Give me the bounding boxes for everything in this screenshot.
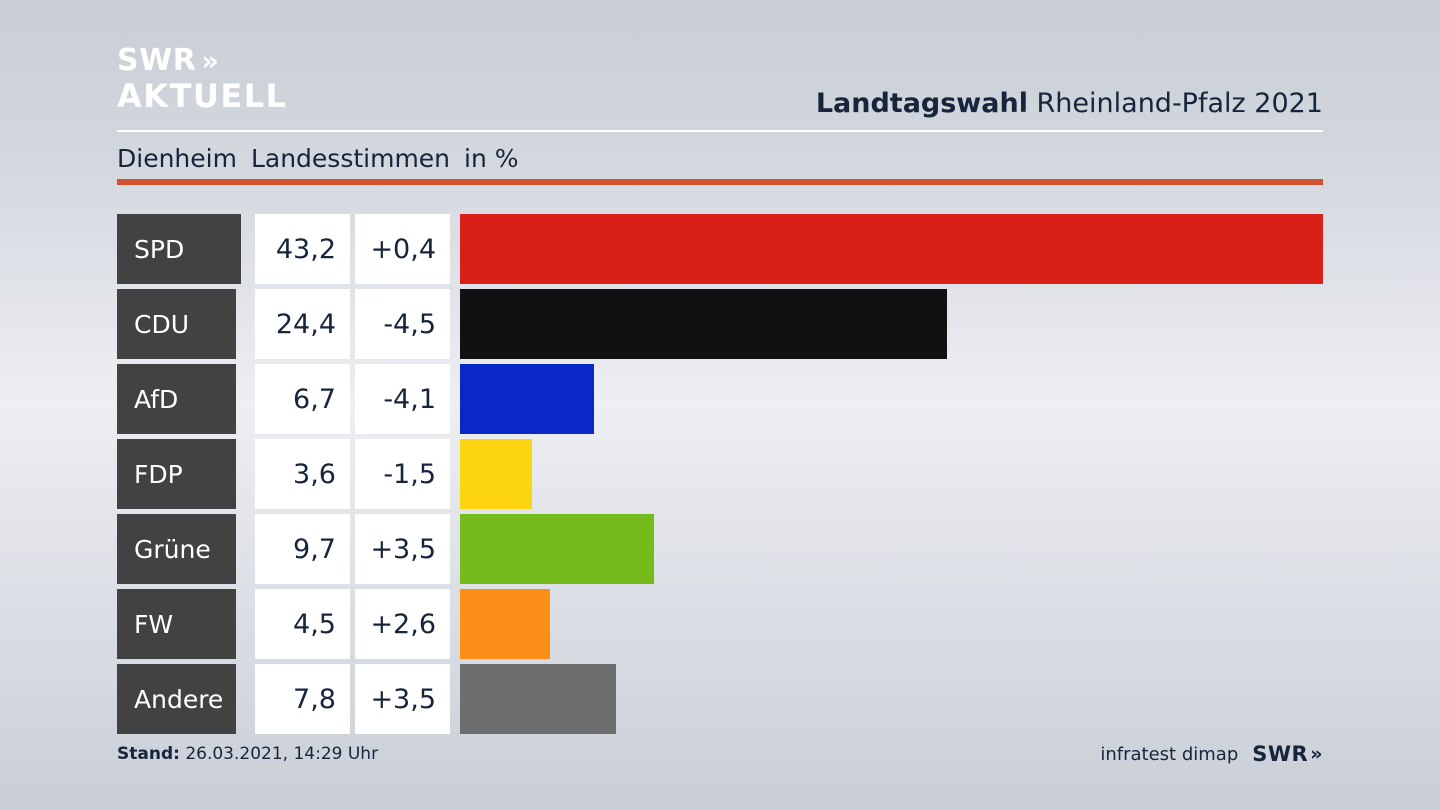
source-credit: infratest dimap SWR»	[1100, 742, 1323, 766]
subtitle-votetype: Landesstimmen	[251, 144, 450, 173]
swr-logo-footer: SWR»	[1252, 742, 1323, 766]
change-value-spd: +0,4	[355, 214, 450, 284]
party-label-fdp: FDP	[117, 439, 236, 509]
party-label-andere: Andere	[117, 664, 236, 734]
share-value-andere: 7,8	[255, 664, 350, 734]
results-table: SPD 43,2 +0,4 CDU 24,4 -4,5 AfD 6,7 -4,1…	[117, 214, 1327, 739]
bar-track-andere	[460, 664, 1327, 734]
page-title-region: Rheinland-Pfalz 2021	[1037, 88, 1323, 119]
page-title: Landtagswahl Rheinland-Pfalz 2021	[816, 88, 1323, 119]
logo-line-swr: SWR »	[117, 46, 288, 76]
logo-text-aktuell: AKTUELL	[117, 80, 288, 112]
share-value-gruene: 9,7	[255, 514, 350, 584]
bar-cdu	[460, 289, 947, 359]
pollster-name: infratest dimap	[1100, 744, 1238, 765]
bar-track-afd	[460, 364, 1327, 434]
change-value-andere: +3,5	[355, 664, 450, 734]
bar-track-fdp	[460, 439, 1327, 509]
header-divider	[117, 130, 1323, 132]
bar-gruene	[460, 514, 654, 584]
share-value-spd: 43,2	[255, 214, 350, 284]
party-label-afd: AfD	[117, 364, 236, 434]
change-value-afd: -4,1	[355, 364, 450, 434]
timestamp: Stand: 26.03.2021, 14:29 Uhr	[117, 744, 378, 764]
swr-text: SWR	[1252, 742, 1308, 766]
share-value-afd: 6,7	[255, 364, 350, 434]
party-label-spd: SPD	[117, 214, 241, 284]
subtitle-place: Dienheim	[117, 144, 237, 173]
bar-track-spd	[460, 214, 1327, 284]
bar-track-cdu	[460, 289, 1327, 359]
timestamp-value: 26.03.2021, 14:29 Uhr	[185, 744, 378, 764]
timestamp-label: Stand:	[117, 744, 180, 764]
table-row: AfD 6,7 -4,1	[117, 364, 1327, 434]
bar-andere	[460, 664, 616, 734]
party-label-gruene: Grüne	[117, 514, 236, 584]
subtitle: DienheimLandesstimmenin %	[117, 144, 519, 173]
change-value-fw: +2,6	[355, 589, 450, 659]
party-label-cdu: CDU	[117, 289, 236, 359]
table-row: Andere 7,8 +3,5	[117, 664, 1327, 734]
table-row: SPD 43,2 +0,4	[117, 214, 1327, 284]
double-chevron-icon: »	[201, 48, 219, 75]
double-chevron-icon: »	[1310, 743, 1323, 765]
bar-track-fw	[460, 589, 1327, 659]
share-value-fdp: 3,6	[255, 439, 350, 509]
swr-aktuell-logo: SWR » AKTUELL	[117, 46, 288, 112]
bar-fdp	[460, 439, 532, 509]
share-value-cdu: 24,4	[255, 289, 350, 359]
change-value-cdu: -4,5	[355, 289, 450, 359]
share-value-fw: 4,5	[255, 589, 350, 659]
change-value-gruene: +3,5	[355, 514, 450, 584]
page-title-bold: Landtagswahl	[816, 88, 1028, 119]
infographic-stage: SWR » AKTUELL Landtagswahl Rheinland-Pfa…	[0, 0, 1440, 810]
bar-spd	[460, 214, 1323, 284]
logo-line-aktuell: AKTUELL	[117, 80, 288, 112]
table-row: CDU 24,4 -4,5	[117, 289, 1327, 359]
change-value-fdp: -1,5	[355, 439, 450, 509]
table-row: FDP 3,6 -1,5	[117, 439, 1327, 509]
accent-divider	[117, 179, 1323, 185]
table-row: FW 4,5 +2,6	[117, 589, 1327, 659]
table-row: Grüne 9,7 +3,5	[117, 514, 1327, 584]
logo-text-swr: SWR	[117, 46, 196, 76]
bar-afd	[460, 364, 594, 434]
subtitle-unit: in %	[464, 144, 519, 173]
bar-track-gruene	[460, 514, 1327, 584]
bar-fw	[460, 589, 550, 659]
party-label-fw: FW	[117, 589, 236, 659]
